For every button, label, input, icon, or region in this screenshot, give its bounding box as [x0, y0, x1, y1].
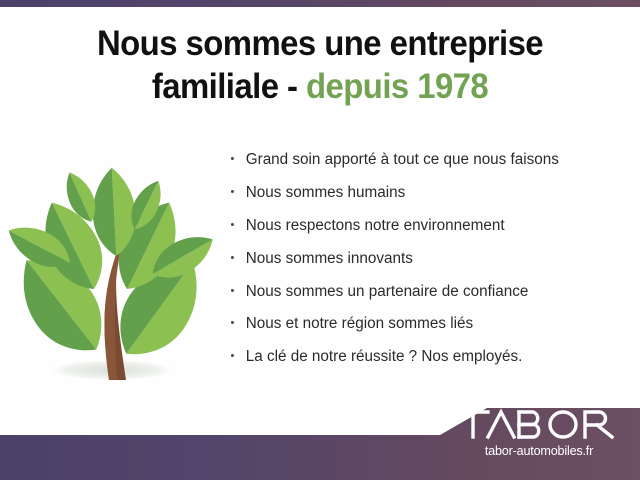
list-item-label: Nous sommes un partenaire de confiance: [246, 283, 529, 300]
list-item: Nous sommes innovants: [228, 249, 622, 268]
top-accent-bar: [0, 0, 640, 7]
slide-canvas: Nous sommes une entreprise familiale - d…: [0, 0, 640, 480]
list-item-label: Grand soin apporté à tout ce que nous fa…: [246, 151, 559, 168]
list-item-label: La clé de notre réussite ? Nos employés.: [246, 348, 523, 365]
tree-illustration: [8, 148, 218, 393]
bullet-dot-icon: [231, 223, 234, 226]
footer-bar: tabor-automobiles.fr: [0, 400, 640, 480]
list-item: La clé de notre réussite ? Nos employés.: [228, 347, 622, 366]
headline-accent-year: depuis 1978: [306, 67, 488, 106]
value-bullet-list: Grand soin apporté à tout ce que nous fa…: [228, 150, 628, 380]
headline-line-1: Nous sommes une entreprise: [97, 24, 543, 63]
list-item: Nous sommes un partenaire de confiance: [228, 282, 622, 301]
list-item-label: Nous sommes humains: [246, 184, 406, 201]
list-item-label: Nous respectons notre environnement: [246, 217, 505, 234]
headline-line-2: familiale - depuis 1978: [19, 67, 621, 107]
footer-shape: [0, 408, 640, 480]
list-item: Grand soin apporté à tout ce que nous fa…: [228, 150, 622, 169]
list-item: Nous sommes humains: [228, 183, 622, 202]
bullet-dot-icon: [231, 354, 234, 357]
list-item: Nous et notre région sommes liés: [228, 314, 622, 333]
page-title: Nous sommes une entreprise familiale - d…: [19, 24, 621, 108]
bullet-dot-icon: [231, 321, 234, 324]
headline-line-2-prefix: familiale -: [152, 67, 298, 106]
bullet-dot-icon: [231, 190, 234, 193]
list-item-label: Nous et notre région sommes liés: [246, 315, 473, 332]
list-item: Nous respectons notre environnement: [228, 216, 622, 235]
bullet-dot-icon: [231, 289, 234, 292]
bullet-dot-icon: [231, 157, 234, 160]
list-item-label: Nous sommes innovants: [246, 250, 413, 267]
bullet-dot-icon: [231, 256, 234, 259]
